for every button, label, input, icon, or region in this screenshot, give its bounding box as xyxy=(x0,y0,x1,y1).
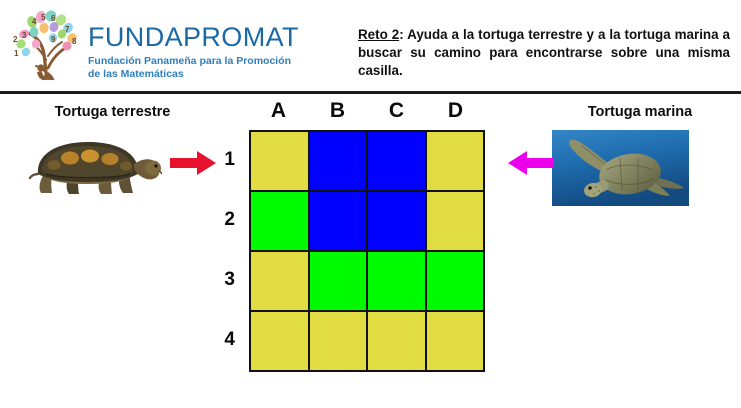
grid-cell-C3[interactable] xyxy=(368,252,425,310)
brand-name: FUNDAPROMAT xyxy=(88,22,328,52)
math-tree-logo-icon: 1 2 3 4 5 6 7 8 9 xyxy=(10,8,86,86)
svg-text:9: 9 xyxy=(51,35,56,44)
grid-cell-A4[interactable] xyxy=(251,312,308,370)
challenge-separator: : xyxy=(399,27,407,42)
svg-text:2: 2 xyxy=(13,35,18,44)
svg-text:4: 4 xyxy=(32,17,37,26)
svg-text:6: 6 xyxy=(51,14,56,23)
sea-turtle-photo-icon xyxy=(552,130,689,206)
grid-row-header-4: 4 xyxy=(205,310,245,370)
grid-cell-B3[interactable] xyxy=(310,252,367,310)
grid-cell-D3[interactable] xyxy=(427,252,484,310)
arrow-left-icon xyxy=(508,150,554,176)
grid-column-header-c: C xyxy=(367,96,426,126)
brand-text: FUNDAPROMAT Fundación Panameña para la P… xyxy=(88,22,328,81)
header-divider xyxy=(0,91,741,94)
challenge-prompt-block: Reto 2: Ayuda a la tortuga terrestre y a… xyxy=(358,13,730,93)
grid-cell-A2[interactable] xyxy=(251,192,308,250)
grid-cell-B2[interactable] xyxy=(310,192,367,250)
grid-column-headers: ABCD xyxy=(249,96,485,126)
svg-text:1: 1 xyxy=(14,49,19,58)
grid-column-header-d: D xyxy=(426,96,485,126)
grid-row-header-3: 3 xyxy=(205,250,245,310)
grid-cell-B4[interactable] xyxy=(310,312,367,370)
svg-text:5: 5 xyxy=(41,13,46,22)
svg-text:8: 8 xyxy=(72,37,77,46)
land-turtle-label: Tortuga terrestre xyxy=(0,104,225,120)
brand-tagline: Fundación Panameña para la Promoción de … xyxy=(88,55,306,81)
grid-cell-A3[interactable] xyxy=(251,252,308,310)
header: 1 2 3 4 5 6 7 8 9 FUNDAPROMAT Fundación … xyxy=(0,0,741,92)
grid-row-headers: 1234 xyxy=(205,130,245,370)
land-tortoise-photo-icon xyxy=(16,130,166,198)
grid-cell-A1[interactable] xyxy=(251,132,308,190)
puzzle-grid-area: ABCD 1234 xyxy=(205,96,505,378)
sea-turtle-label: Tortuga marina xyxy=(540,104,740,120)
grid-column-header-a: A xyxy=(249,96,308,126)
svg-text:7: 7 xyxy=(65,25,70,34)
grid-row-header-1: 1 xyxy=(205,130,245,190)
grid-cell-D1[interactable] xyxy=(427,132,484,190)
grid-row-header-2: 2 xyxy=(205,190,245,250)
grid-column-header-b: B xyxy=(308,96,367,126)
puzzle-grid[interactable] xyxy=(249,130,485,372)
grid-cell-D2[interactable] xyxy=(427,192,484,250)
challenge-label: Reto 2 xyxy=(358,27,399,42)
challenge-body: Ayuda a la tortuga terrestre y a la tort… xyxy=(358,27,730,77)
challenge-prompt-text: Reto 2: Ayuda a la tortuga terrestre y a… xyxy=(358,26,730,79)
grid-cell-D4[interactable] xyxy=(427,312,484,370)
grid-cell-C1[interactable] xyxy=(368,132,425,190)
grid-cell-C4[interactable] xyxy=(368,312,425,370)
grid-cell-B1[interactable] xyxy=(310,132,367,190)
svg-text:3: 3 xyxy=(22,31,27,40)
grid-cell-C2[interactable] xyxy=(368,192,425,250)
brand-logo-block: 1 2 3 4 5 6 7 8 9 FUNDAPROMAT Fundación … xyxy=(8,6,328,86)
